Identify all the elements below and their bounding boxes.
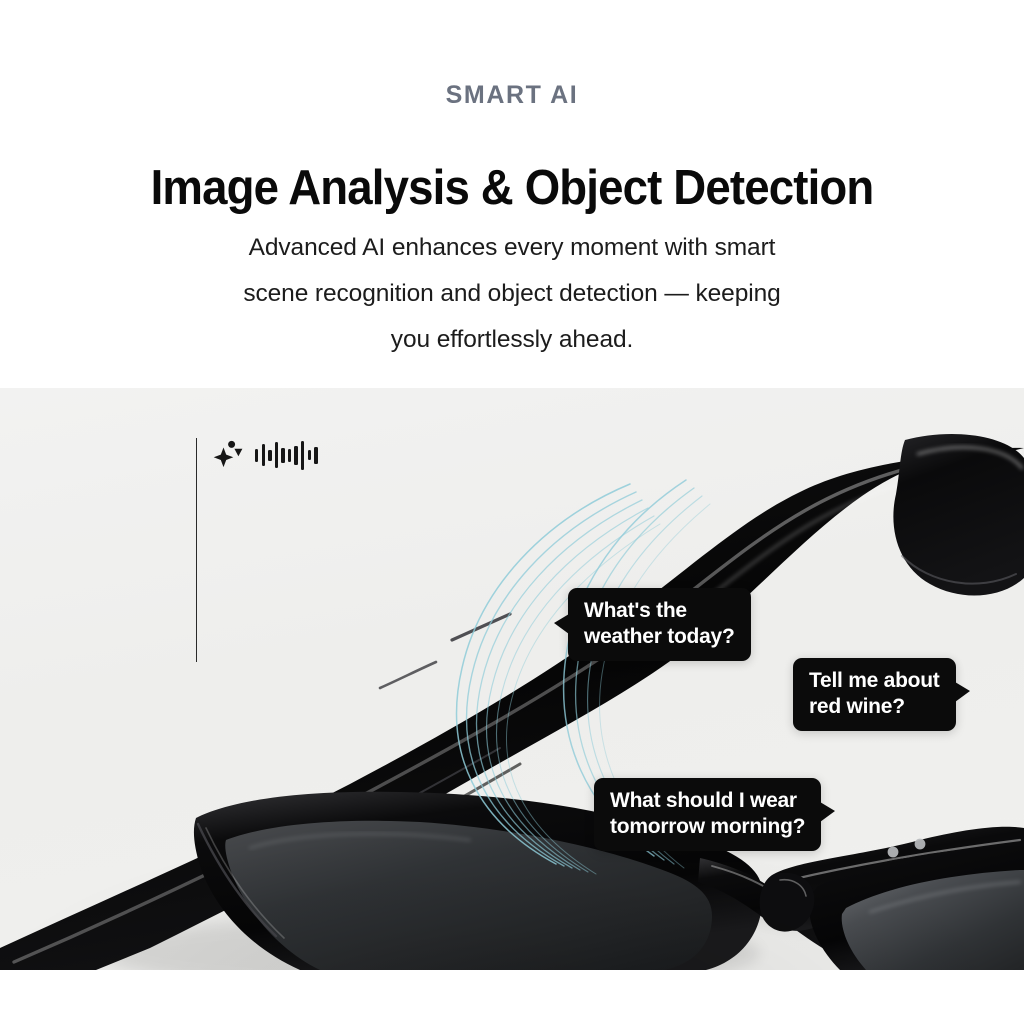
- speech-bubble-wine[interactable]: Tell me about red wine?: [793, 658, 956, 731]
- speaker-slot: [452, 614, 510, 640]
- subtitle-line-2: scene recognition and object detection —…: [162, 271, 862, 317]
- bubble-tail-icon: [554, 614, 569, 634]
- header-copy-block: SMART AI Image Analysis & Object Detecti…: [0, 0, 1024, 388]
- smart-ai-feature-page: SMART AI Image Analysis & Object Detecti…: [0, 0, 1024, 1024]
- subtitle-line-1: Advanced AI enhances every moment with s…: [162, 225, 862, 271]
- sparkle-icon: [213, 439, 243, 471]
- speaker-slot-2: [380, 662, 436, 688]
- product-photo-panel: What's the weather today? Tell me about …: [0, 388, 1024, 970]
- bubble-line-1: Tell me about: [809, 668, 940, 694]
- subtitle-paragraph: Advanced AI enhances every moment with s…: [162, 225, 862, 363]
- speech-bubble-weather[interactable]: What's the weather today?: [568, 588, 751, 661]
- annotation-divider-line: [196, 438, 197, 662]
- audio-waveform-icon: [255, 440, 318, 470]
- subtitle-line-3: you effortlessly ahead.: [162, 317, 862, 363]
- mic-hole-icon: [888, 847, 899, 858]
- mic-hole-icon: [915, 839, 926, 850]
- bubble-line-2: red wine?: [809, 694, 940, 720]
- bubble-line-2: weather today?: [584, 624, 735, 650]
- page-title: Image Analysis & Object Detection: [36, 158, 988, 218]
- ai-voice-icon-group: [213, 438, 318, 472]
- bubble-tail-icon: [955, 682, 970, 702]
- bottom-white-strip: [0, 970, 1024, 1024]
- bubble-line-1: What's the: [584, 598, 735, 624]
- eyebrow-label: SMART AI: [0, 80, 1024, 110]
- bubble-line-2: tomorrow morning?: [610, 814, 805, 840]
- arm-tip-curl: [893, 434, 1024, 595]
- bubble-line-1: What should I wear: [610, 788, 805, 814]
- bubble-tail-icon: [820, 802, 835, 822]
- speech-bubble-outfit[interactable]: What should I wear tomorrow morning?: [594, 778, 821, 851]
